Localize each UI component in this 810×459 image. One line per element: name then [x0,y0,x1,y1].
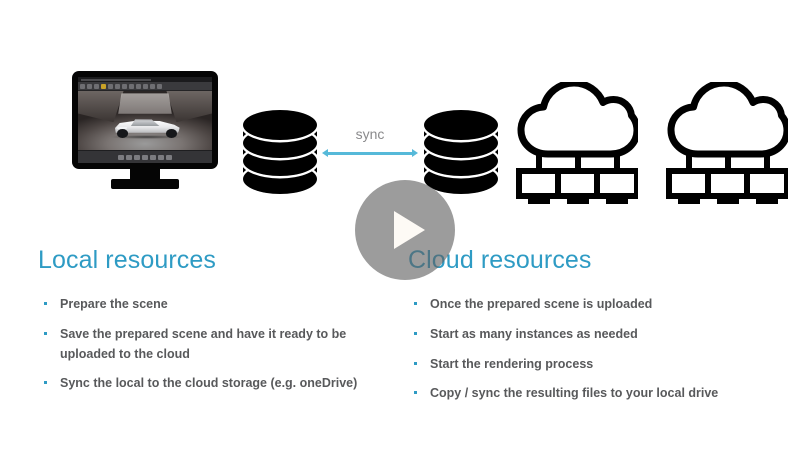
app-statusbar [78,150,212,163]
list-item: Save the prepared scene and have it read… [38,325,388,365]
database-disc [424,110,498,140]
monitor-base [111,179,179,189]
render-viewport [78,91,212,151]
workstation-monitor-icon [72,71,218,189]
monitor-bezel [72,71,218,169]
list-item: Once the prepared scene is uploaded [408,295,778,315]
local-resources-heading: Local resources [38,246,388,275]
cloud-resources-heading: Cloud resources [408,246,778,275]
toolbar-icon [80,84,85,89]
toolbar-icon [129,84,134,89]
toolbar-icon [143,84,148,89]
status-icon [134,155,140,160]
database-disc [243,110,317,140]
local-resources-column: Local resources Prepare the scene Save t… [38,246,388,404]
cloud-database-icon [424,110,498,194]
toolbar-icon [94,84,99,89]
play-triangle-icon [394,211,425,249]
toolbar-icon-active [101,84,106,89]
cloud-computing-icon [662,82,788,209]
car-model [110,115,182,139]
toolbar-icon [87,84,92,89]
monitor-screen [78,77,212,163]
sync-arrow-left-icon [322,149,328,157]
app-toolbar [78,82,212,91]
local-database-icon [243,110,317,194]
status-icon [118,155,124,160]
cloud-computing-icon [512,82,638,209]
toolbar-icon [150,84,155,89]
toolbar-icon [157,84,162,89]
list-item: Start as many instances as needed [408,325,778,345]
slide-canvas: sync [0,0,810,459]
list-item: Prepare the scene [38,295,388,315]
sync-label: sync [322,126,418,142]
sync-connector: sync [322,126,418,160]
video-play-button[interactable] [355,180,455,280]
car-wheel-rear [166,129,177,137]
car-wheel-front [117,129,128,137]
list-item: Copy / sync the resulting files to your … [408,384,778,404]
status-icon [126,155,132,160]
cloud-resources-column: Cloud resources Once the prepared scene … [408,246,778,414]
sync-line [325,152,415,155]
toolbar-icon [136,84,141,89]
status-icon [150,155,156,160]
list-item: Start the rendering process [408,355,778,375]
monitor-neck [130,169,160,179]
status-icon [158,155,164,160]
status-icon [166,155,172,160]
studio-softbox [118,93,172,113]
toolbar-icon [122,84,127,89]
list-item: Sync the local to the cloud storage (e.g… [38,374,388,394]
cloud-resources-list: Once the prepared scene is uploaded Star… [408,295,778,404]
sync-arrow-right-icon [412,149,418,157]
toolbar-icon [108,84,113,89]
local-resources-list: Prepare the scene Save the prepared scen… [38,295,388,394]
status-icon [142,155,148,160]
toolbar-icon [115,84,120,89]
app-titlebar [78,77,212,82]
